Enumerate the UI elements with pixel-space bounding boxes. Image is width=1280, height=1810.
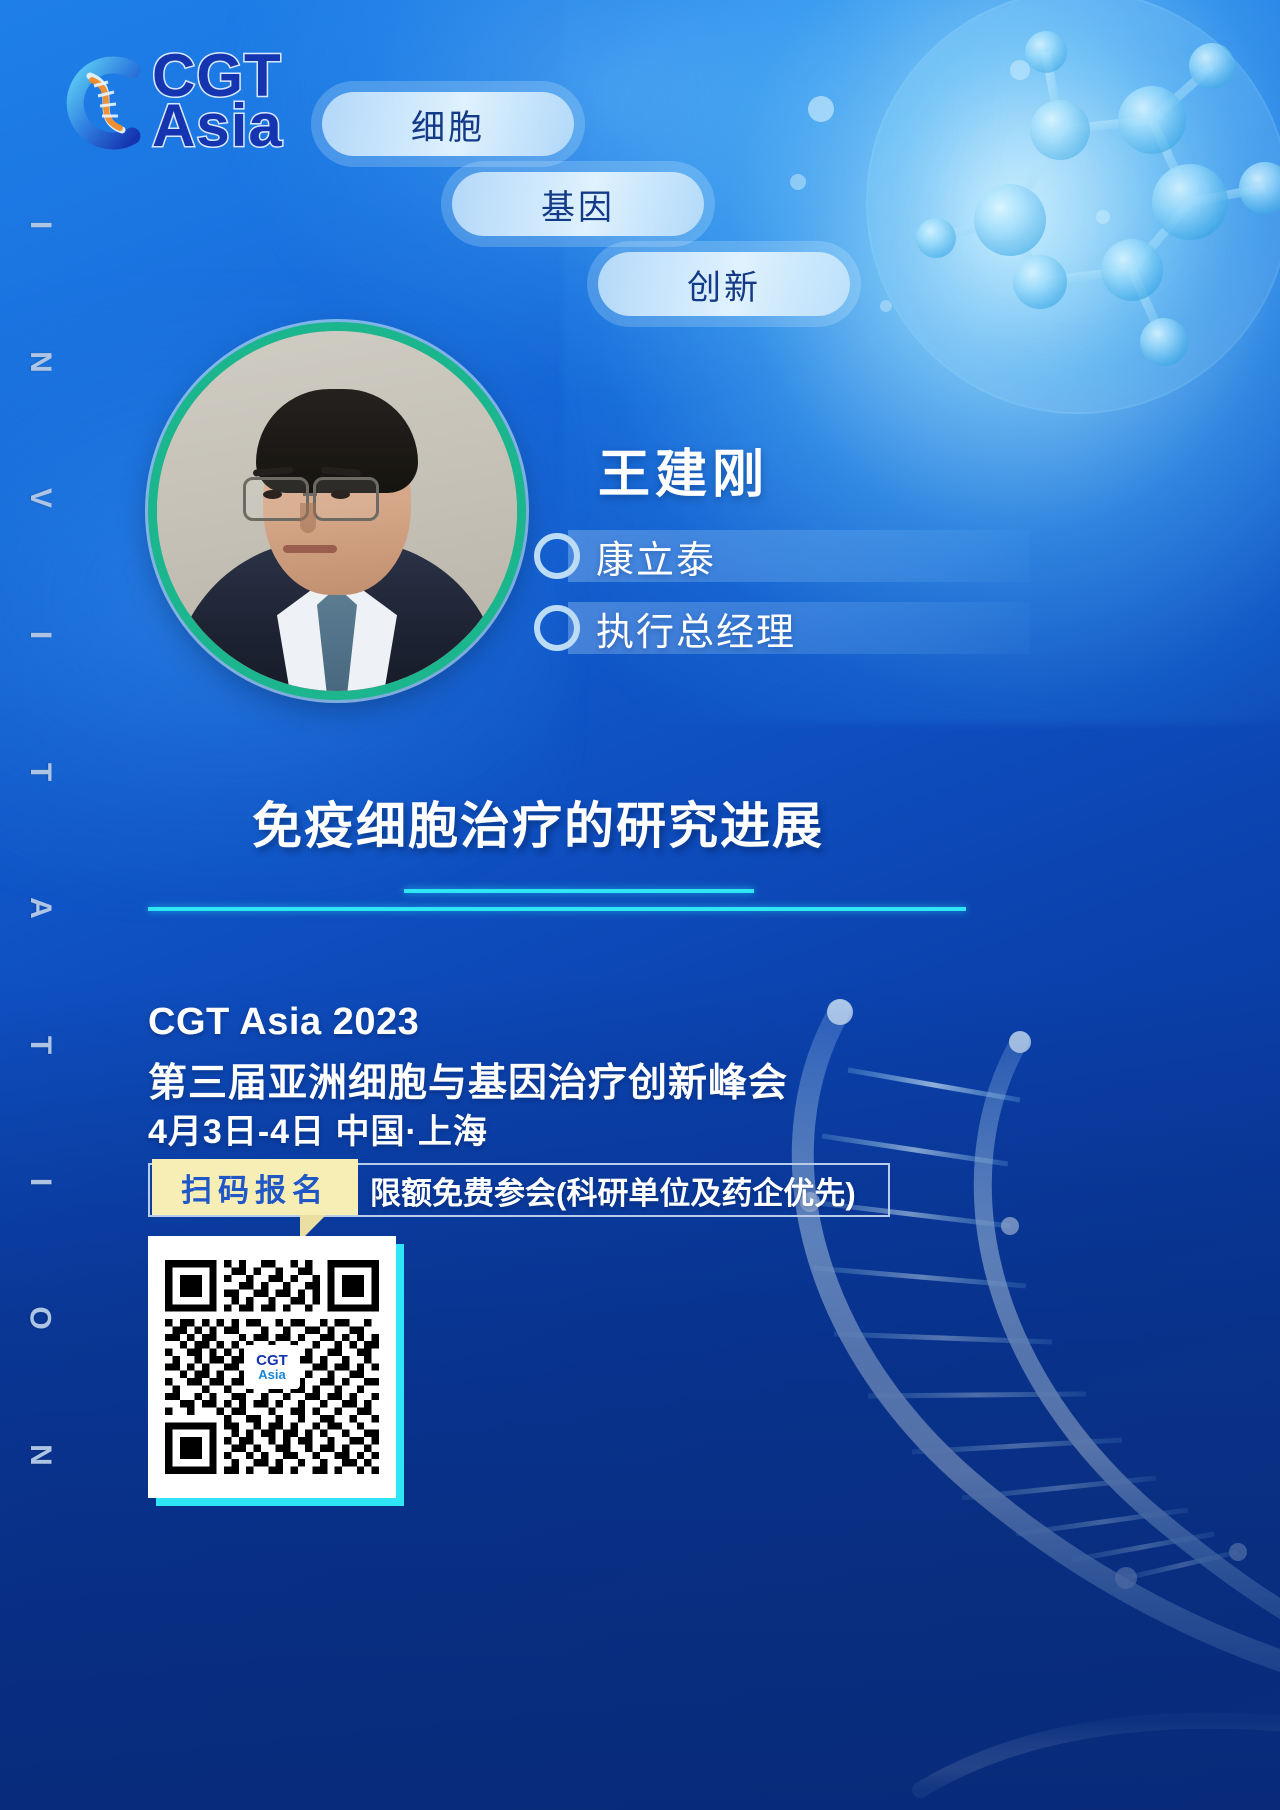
invitation-letter: T bbox=[25, 1036, 55, 1054]
portrait-eye-left bbox=[263, 490, 282, 499]
invitation-letter: O bbox=[25, 1307, 55, 1330]
event-name-cn: 第三届亚洲细胞与基因治疗创新峰会 bbox=[148, 1052, 788, 1108]
invitation-letter: A bbox=[25, 897, 55, 919]
invitation-poster: I N V I T A T I O N bbox=[0, 0, 1280, 1810]
speaker-portrait bbox=[148, 322, 526, 700]
ring-bullet-icon bbox=[534, 533, 580, 579]
portrait-nose bbox=[300, 503, 316, 533]
divider-upper bbox=[404, 889, 754, 893]
invitation-vertical-label: I N V I T A T I O N bbox=[10, 210, 70, 1470]
tag-pill-gene: 基因 bbox=[452, 172, 704, 236]
scan-to-register-badge[interactable]: 扫码报名 bbox=[152, 1159, 358, 1215]
invitation-letter: T bbox=[25, 762, 55, 780]
molecule-icon bbox=[760, 0, 1280, 440]
tag-pill-label: 基因 bbox=[541, 180, 615, 229]
invitation-letter: N bbox=[25, 351, 55, 373]
logo-asia-text: Asia bbox=[152, 98, 283, 154]
invitation-letter: I bbox=[25, 1177, 55, 1185]
tag-pill-label: 细胞 bbox=[411, 100, 485, 149]
registration-note: 限额免费参会(科研单位及药企优先) bbox=[370, 1163, 856, 1217]
tag-pill-innovation: 创新 bbox=[598, 252, 850, 316]
talk-title: 免疫细胞治疗的研究进展 bbox=[252, 786, 824, 858]
event-name-en: CGT Asia 2023 bbox=[148, 1001, 419, 1044]
qr-code-icon[interactable]: CGT Asia bbox=[165, 1260, 379, 1474]
qr-code-block[interactable]: CGT Asia bbox=[148, 1236, 396, 1498]
speaker-title-row: 执行总经理 bbox=[534, 600, 1030, 656]
divider-lower bbox=[148, 907, 966, 911]
speaker-company: 康立泰 bbox=[596, 529, 716, 584]
speaker-affiliation-row: 康立泰 bbox=[534, 528, 1030, 584]
tag-pill-label: 创新 bbox=[687, 260, 761, 309]
speaker-job-title: 执行总经理 bbox=[596, 601, 796, 656]
invitation-letter: N bbox=[25, 1444, 55, 1466]
cgt-asia-logo: CGT Asia bbox=[46, 44, 296, 172]
portrait-glasses-bridge bbox=[303, 493, 317, 496]
logo-wordmark: CGT Asia bbox=[152, 48, 283, 155]
qr-center-logo: CGT Asia bbox=[244, 1345, 300, 1389]
event-date-location: 4月3日-4日 中国·上海 bbox=[148, 1104, 488, 1153]
molecule-halo bbox=[866, 0, 1280, 414]
ring-bullet-icon bbox=[534, 605, 580, 651]
qr-card[interactable]: CGT Asia bbox=[148, 1236, 396, 1498]
invitation-letter: I bbox=[25, 221, 55, 229]
tag-pill-cell: 细胞 bbox=[322, 92, 574, 156]
registration-strip: 扫码报名 限额免费参会(科研单位及药企优先) bbox=[148, 1163, 890, 1217]
speaker-name: 王建刚 bbox=[598, 432, 769, 507]
portrait-mouth bbox=[283, 545, 337, 553]
portrait-eye-right bbox=[331, 490, 350, 499]
invitation-letter: I bbox=[25, 631, 55, 639]
qr-logo-line1: CGT bbox=[256, 1353, 288, 1368]
portrait-glasses-right bbox=[313, 477, 379, 521]
invitation-letter: V bbox=[25, 488, 55, 508]
dna-helix-c-logo-icon bbox=[46, 44, 150, 160]
qr-logo-line2: Asia bbox=[258, 1368, 285, 1381]
